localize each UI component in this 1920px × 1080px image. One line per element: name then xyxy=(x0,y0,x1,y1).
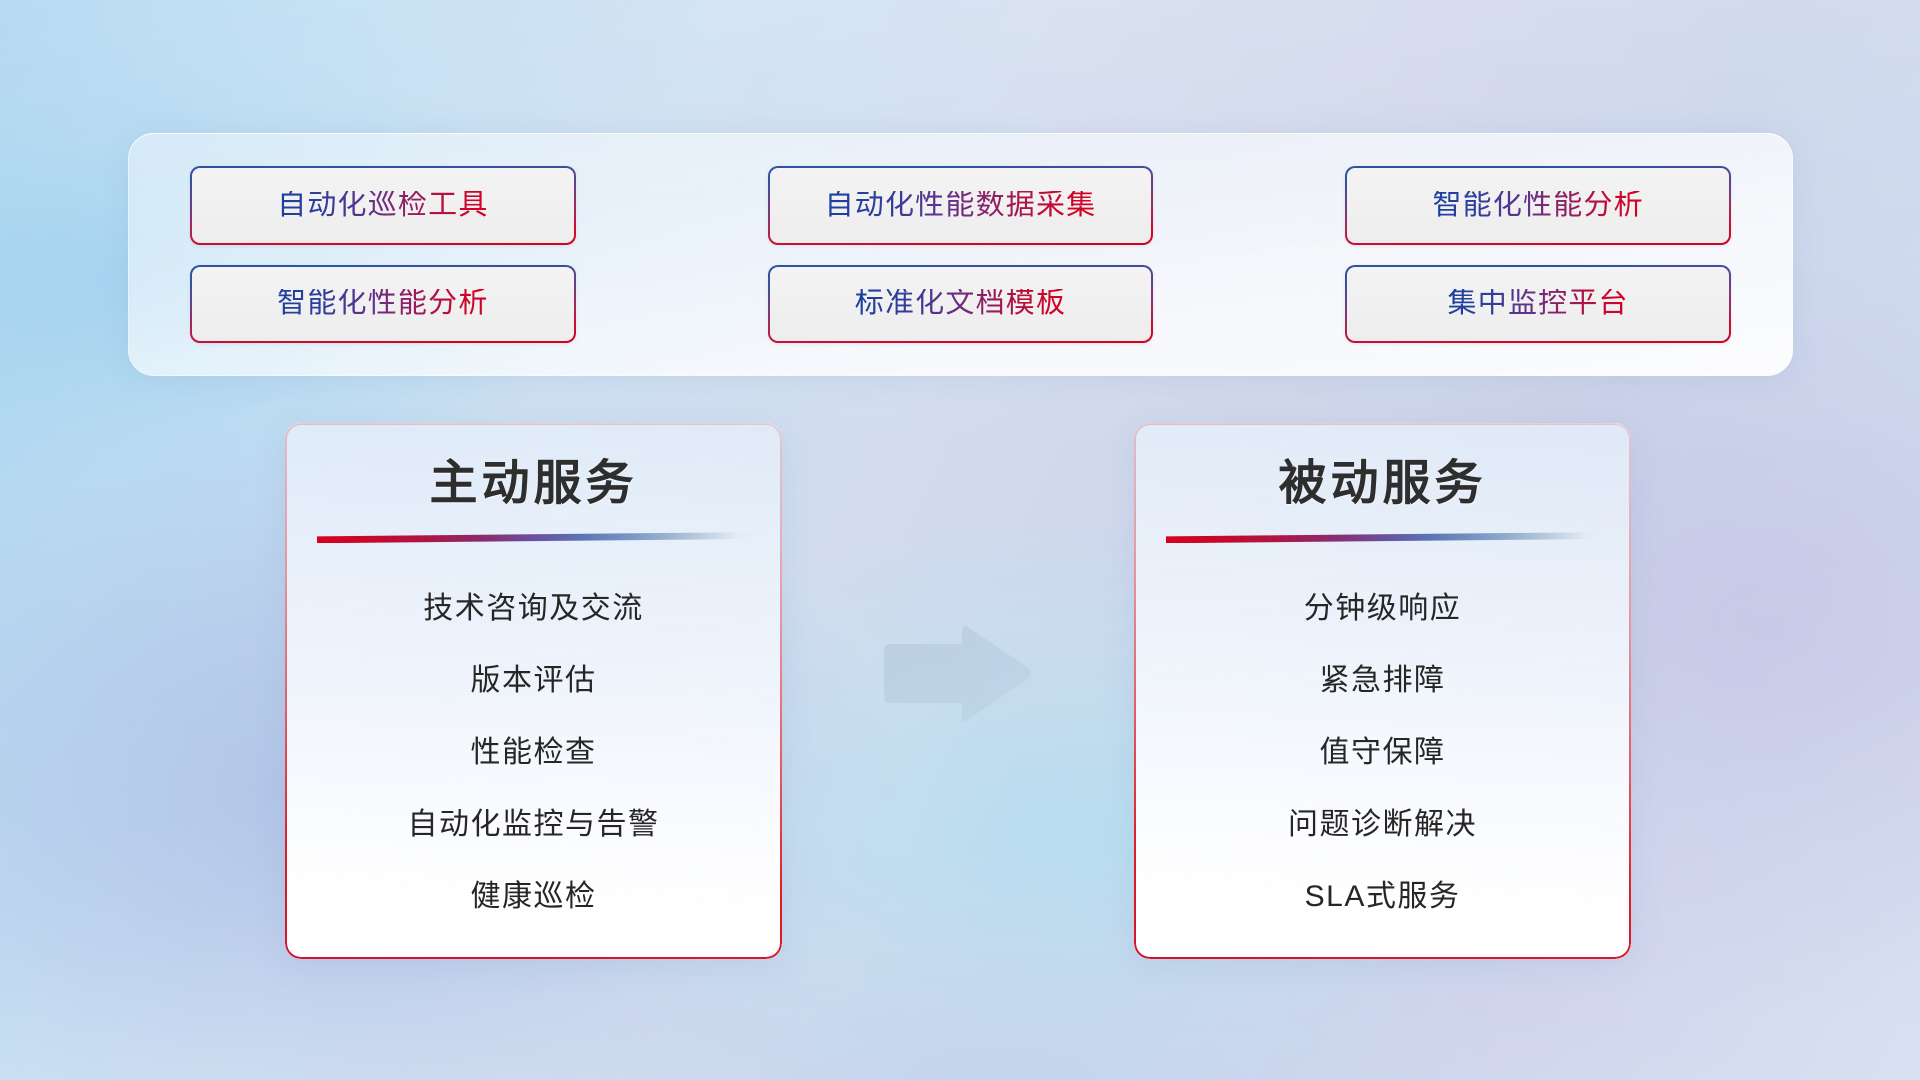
pill-label: 智能化性能分析 xyxy=(277,289,488,318)
card-body: 主动服务 技术咨询及交流 版本评估 性能检查 自动化监控与告警 健康巡检 xyxy=(285,423,782,959)
pill-label: 自动化性能数据采集 xyxy=(825,191,1097,220)
pill-intelligent-performance-analysis-bottom[interactable]: 智能化性能分析 xyxy=(190,265,576,344)
card-body: 被动服务 分钟级响应 紧急排障 值守保障 问题诊断解决 SLA式服务 xyxy=(1134,423,1631,959)
pill-inner: 智能化性能分析 xyxy=(192,267,574,342)
active-service-card[interactable]: 主动服务 技术咨询及交流 版本评估 性能检查 自动化监控与告警 健康巡检 xyxy=(285,423,782,959)
pill-inner: 自动化性能数据采集 xyxy=(770,168,1152,243)
list-item: 问题诊断解决 xyxy=(1288,789,1477,861)
list-item: 技术咨询及交流 xyxy=(423,573,644,645)
slide-canvas: 自动化巡检工具 自动化性能数据采集 智能化性能分析 智能化性能分析 xyxy=(0,0,1920,1080)
list-item: 紧急排障 xyxy=(1320,645,1446,717)
list-item: SLA式服务 xyxy=(1305,861,1461,933)
pill-standardized-doc-template[interactable]: 标准化文档模板 xyxy=(768,265,1154,344)
pill-inner: 标准化文档模板 xyxy=(770,267,1152,342)
card-title: 主动服务 xyxy=(429,456,637,511)
pill-label: 标准化文档模板 xyxy=(855,289,1066,318)
pill-inner: 自动化巡检工具 xyxy=(192,168,574,243)
pill-centralized-monitoring-platform[interactable]: 集中监控平台 xyxy=(1345,265,1731,344)
list-item: 版本评估 xyxy=(471,645,597,717)
capability-panel: 自动化巡检工具 自动化性能数据采集 智能化性能分析 智能化性能分析 xyxy=(128,133,1793,376)
pill-automation-inspection-tool[interactable]: 自动化巡检工具 xyxy=(190,166,576,245)
flow-arrow-right-icon-svg xyxy=(877,620,1035,728)
pill-automation-performance-data-collection[interactable]: 自动化性能数据采集 xyxy=(768,166,1154,245)
pill-inner: 集中监控平台 xyxy=(1347,267,1729,342)
card-title-divider xyxy=(1166,532,1599,543)
passive-service-card[interactable]: 被动服务 分钟级响应 紧急排障 值守保障 问题诊断解决 SLA式服务 xyxy=(1134,423,1631,959)
list-item: 值守保障 xyxy=(1320,717,1446,789)
card-title: 被动服务 xyxy=(1278,456,1486,511)
pill-label: 智能化性能分析 xyxy=(1432,191,1643,220)
pill-inner: 智能化性能分析 xyxy=(1347,168,1729,243)
card-title-divider xyxy=(317,532,750,543)
capability-pill-grid: 自动化巡检工具 自动化性能数据采集 智能化性能分析 智能化性能分析 xyxy=(128,133,1793,376)
card-list: 技术咨询及交流 版本评估 性能检查 自动化监控与告警 健康巡检 xyxy=(285,573,782,933)
flow-arrow-right-icon xyxy=(877,620,1035,728)
list-item: 健康巡检 xyxy=(471,861,597,933)
card-list: 分钟级响应 紧急排障 值守保障 问题诊断解决 SLA式服务 xyxy=(1134,573,1631,933)
pill-intelligent-performance-analysis-top[interactable]: 智能化性能分析 xyxy=(1345,166,1731,245)
pill-label: 集中监控平台 xyxy=(1448,289,1629,318)
list-item: 分钟级响应 xyxy=(1304,573,1462,645)
pill-label: 自动化巡检工具 xyxy=(277,191,488,220)
list-item: 性能检查 xyxy=(471,717,597,789)
list-item: 自动化监控与告警 xyxy=(408,789,660,861)
